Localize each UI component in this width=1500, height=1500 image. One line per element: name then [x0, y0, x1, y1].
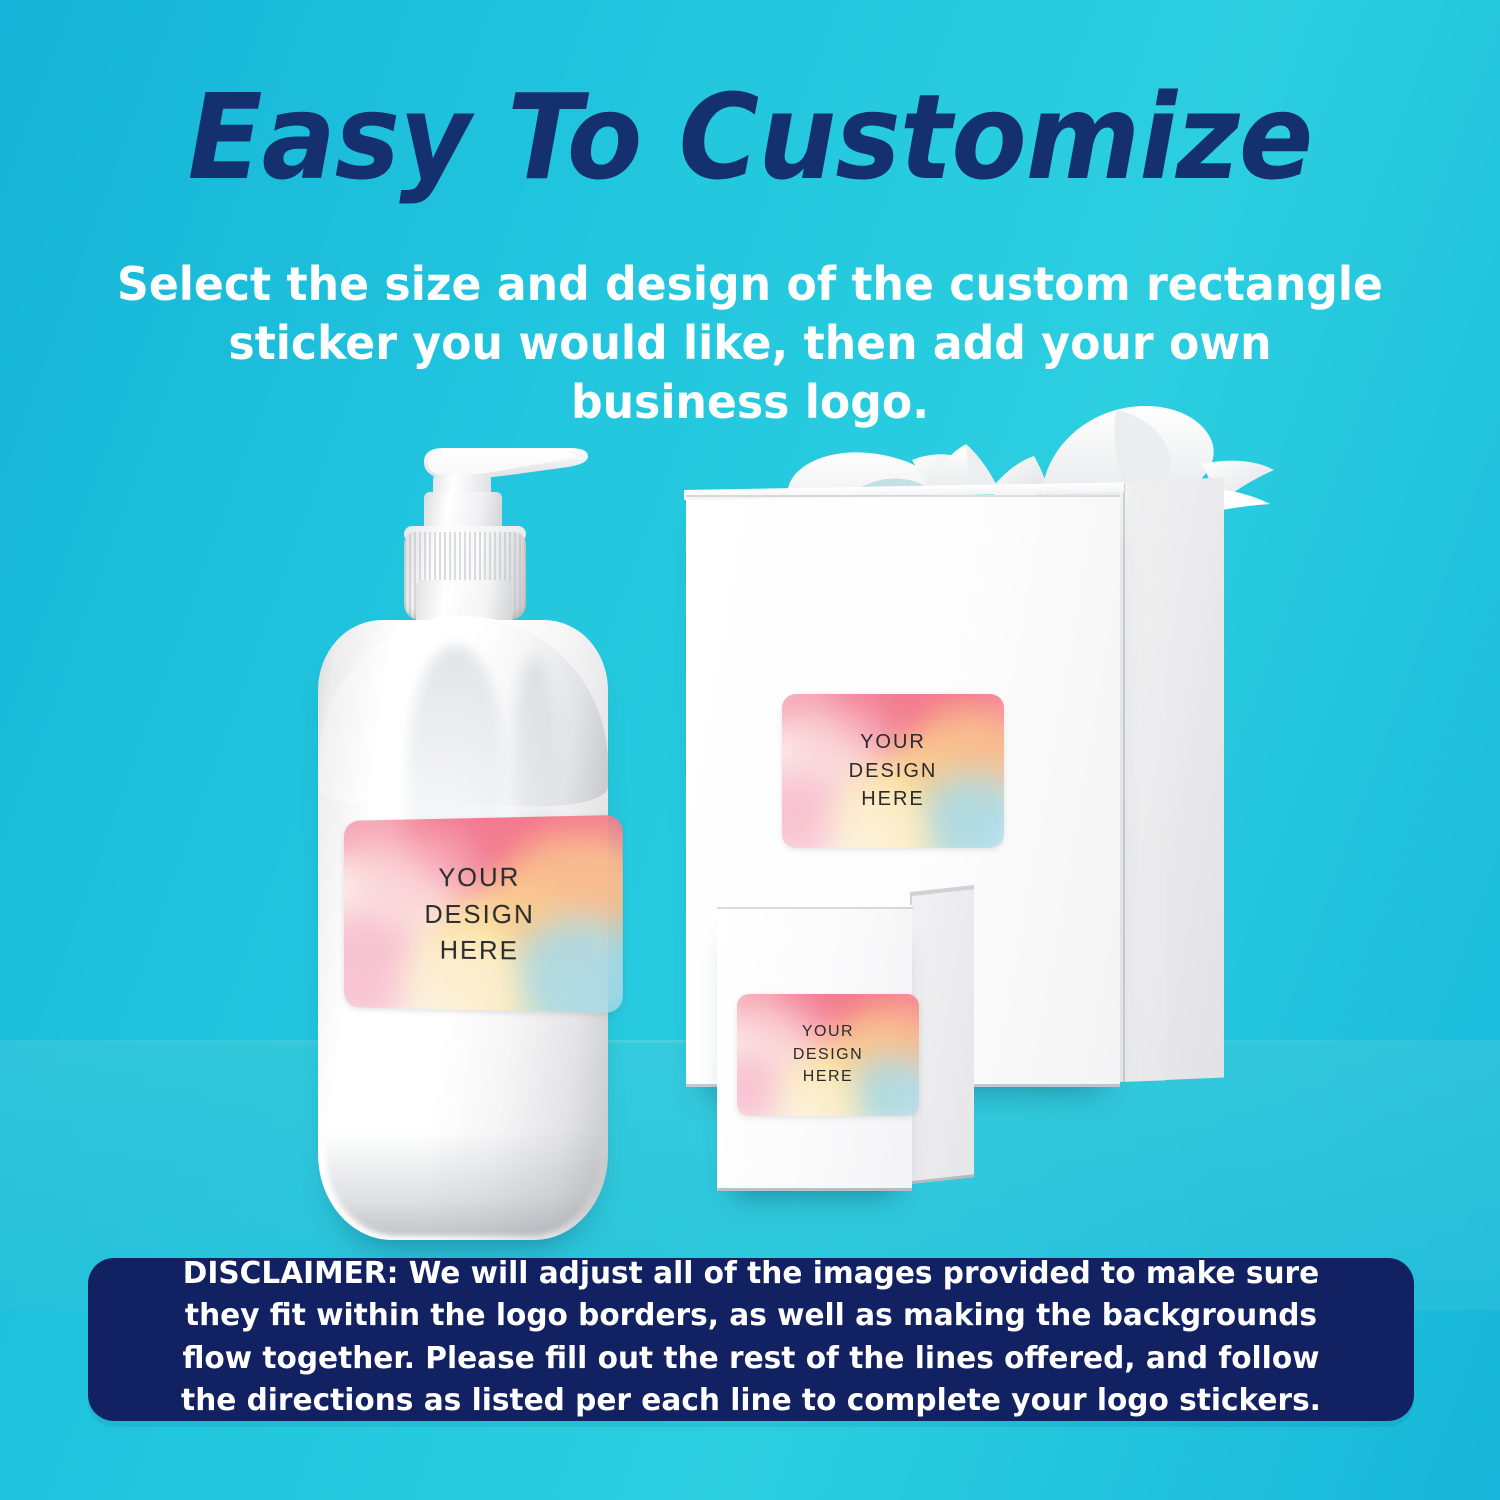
- sticker-on-gift-box[interactable]: YOUR DESIGN HERE: [782, 694, 1004, 848]
- small-box-mockup: YOUR DESIGN HERE: [717, 896, 982, 1194]
- small-box-side-face: [912, 889, 974, 1184]
- disclaimer-banner: DISCLAIMER: We will adjust all of the im…: [88, 1258, 1414, 1421]
- sticker-line-1: YOUR: [438, 858, 520, 896]
- sticker-on-bottle[interactable]: YOUR DESIGN HERE: [344, 815, 623, 1013]
- gift-box-side-front: [1120, 480, 1166, 1082]
- sticker-text: YOUR DESIGN HERE: [782, 694, 1004, 848]
- sticker-line-2: DESIGN: [793, 1044, 863, 1067]
- disclaimer-label: DISCLAIMER:: [183, 1256, 399, 1291]
- gift-box-lid-line: [686, 495, 1120, 497]
- gift-box-side-back: [1164, 477, 1224, 1080]
- sticker-text: YOUR DESIGN HERE: [737, 994, 919, 1116]
- sticker-line-1: YOUR: [802, 1021, 854, 1044]
- gift-box-seam: [1123, 484, 1125, 1082]
- sticker-line-2: DESIGN: [425, 895, 535, 932]
- small-box-top-edge: [717, 907, 913, 909]
- bottle-base-shading: [326, 1130, 600, 1236]
- disclaimer-text: DISCLAIMER: We will adjust all of the im…: [153, 1253, 1350, 1421]
- sticker-on-small-box[interactable]: YOUR DESIGN HERE: [737, 994, 919, 1116]
- sticker-line-3: HERE: [803, 1066, 853, 1089]
- sticker-text: YOUR DESIGN HERE: [344, 815, 623, 1013]
- pump-bottle-mockup: YOUR DESIGN HERE: [300, 440, 630, 1240]
- sticker-line-3: HERE: [861, 785, 925, 813]
- sticker-line-1: YOUR: [860, 728, 926, 756]
- sticker-line-2: DESIGN: [849, 757, 938, 785]
- sticker-line-3: HERE: [440, 932, 519, 970]
- poster-canvas: Easy To Customize Select the size and de…: [0, 0, 1500, 1500]
